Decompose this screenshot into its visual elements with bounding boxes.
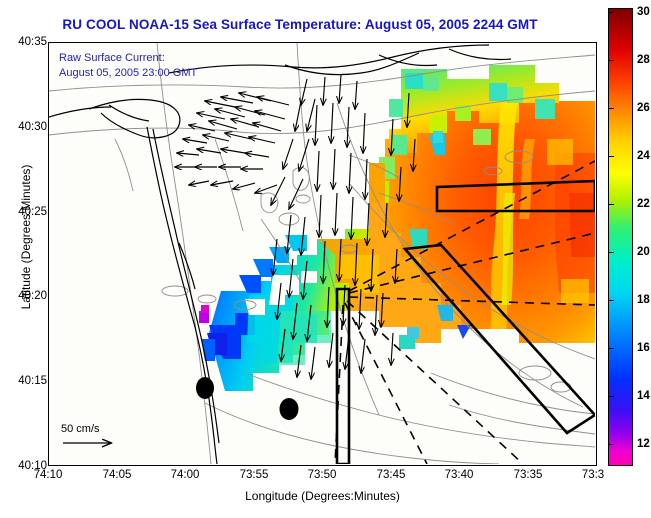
colorbar-tick-label: 26 — [637, 102, 650, 114]
sst-pixel — [473, 129, 491, 145]
colorbar-tick-label: 24 — [637, 150, 650, 162]
velocity-scale-bar: 50 cm/s — [61, 423, 121, 449]
current-annotation-line1: Raw Surface Current: — [59, 51, 197, 66]
map-plot-area: Raw Surface Current: August 05, 2005 23:… — [48, 42, 597, 466]
x-tick-label: 74:10 — [34, 469, 63, 481]
colorbar-tick-label: 12 — [637, 438, 650, 450]
x-tick-label: 73:3 — [582, 469, 604, 481]
figure-title: RU COOL NOAA-15 Sea Surface Temperature:… — [0, 17, 600, 32]
current-annotation-line2: August 05, 2005 23:00 GMT — [59, 66, 197, 81]
current-annotation: Raw Surface Current: August 05, 2005 23:… — [59, 51, 197, 81]
sst-pixel — [547, 139, 573, 165]
sst-map-figure: RU COOL NOAA-15 Sea Surface Temperature:… — [0, 0, 651, 518]
map-canvas: Raw Surface Current: August 05, 2005 23:… — [49, 43, 596, 465]
sst-pixel — [391, 135, 407, 155]
sst-pixel — [433, 131, 443, 143]
colorbar-tick-label: 14 — [637, 390, 650, 402]
sst-pixel — [407, 327, 419, 339]
station-marker[interactable] — [280, 398, 299, 420]
sst-nodata-hole — [301, 271, 317, 283]
colorbar-tick-label: 28 — [637, 54, 650, 66]
sst-pixel — [389, 99, 403, 117]
colorbar-tick-label: 22 — [637, 198, 650, 210]
colorbar-tick-label: 18 — [637, 294, 650, 306]
station-marker[interactable] — [196, 377, 214, 399]
colorbar-tick-label: 30 — [637, 6, 650, 18]
sst-pixel — [561, 279, 589, 303]
map-graphics — [49, 43, 595, 464]
x-tick-label: 74:05 — [103, 469, 132, 481]
x-tick-label: 74:00 — [171, 469, 200, 481]
x-tick-label: 73:50 — [308, 469, 337, 481]
colorbar-tick-label: 20 — [637, 246, 650, 258]
y-axis-title: Latitude (Degrees:Minutes) — [19, 117, 33, 357]
x-tick-label: 73:45 — [377, 469, 406, 481]
y-tick-label: 40:15 — [18, 375, 47, 387]
sst-pixel — [423, 77, 439, 91]
velocity-scale-label: 50 cm/s — [61, 423, 121, 435]
x-tick-label: 73:35 — [514, 469, 543, 481]
sst-pixel-coldest — [201, 305, 209, 313]
sst-pixel — [489, 83, 507, 101]
x-tick-label: 73:55 — [240, 469, 269, 481]
velocity-scale-arrow-icon — [61, 437, 121, 449]
temperature-colorbar — [608, 8, 633, 466]
colorbar-tick-label: 16 — [637, 342, 650, 354]
sst-pixel — [535, 99, 555, 119]
sst-warm-core-inner — [569, 193, 595, 257]
sst-pixel — [429, 115, 447, 133]
x-axis-title: Longitude (Degrees:Minutes) — [48, 489, 597, 503]
x-tick-label: 73:40 — [445, 469, 474, 481]
y-tick-label: 40:35 — [18, 36, 47, 48]
